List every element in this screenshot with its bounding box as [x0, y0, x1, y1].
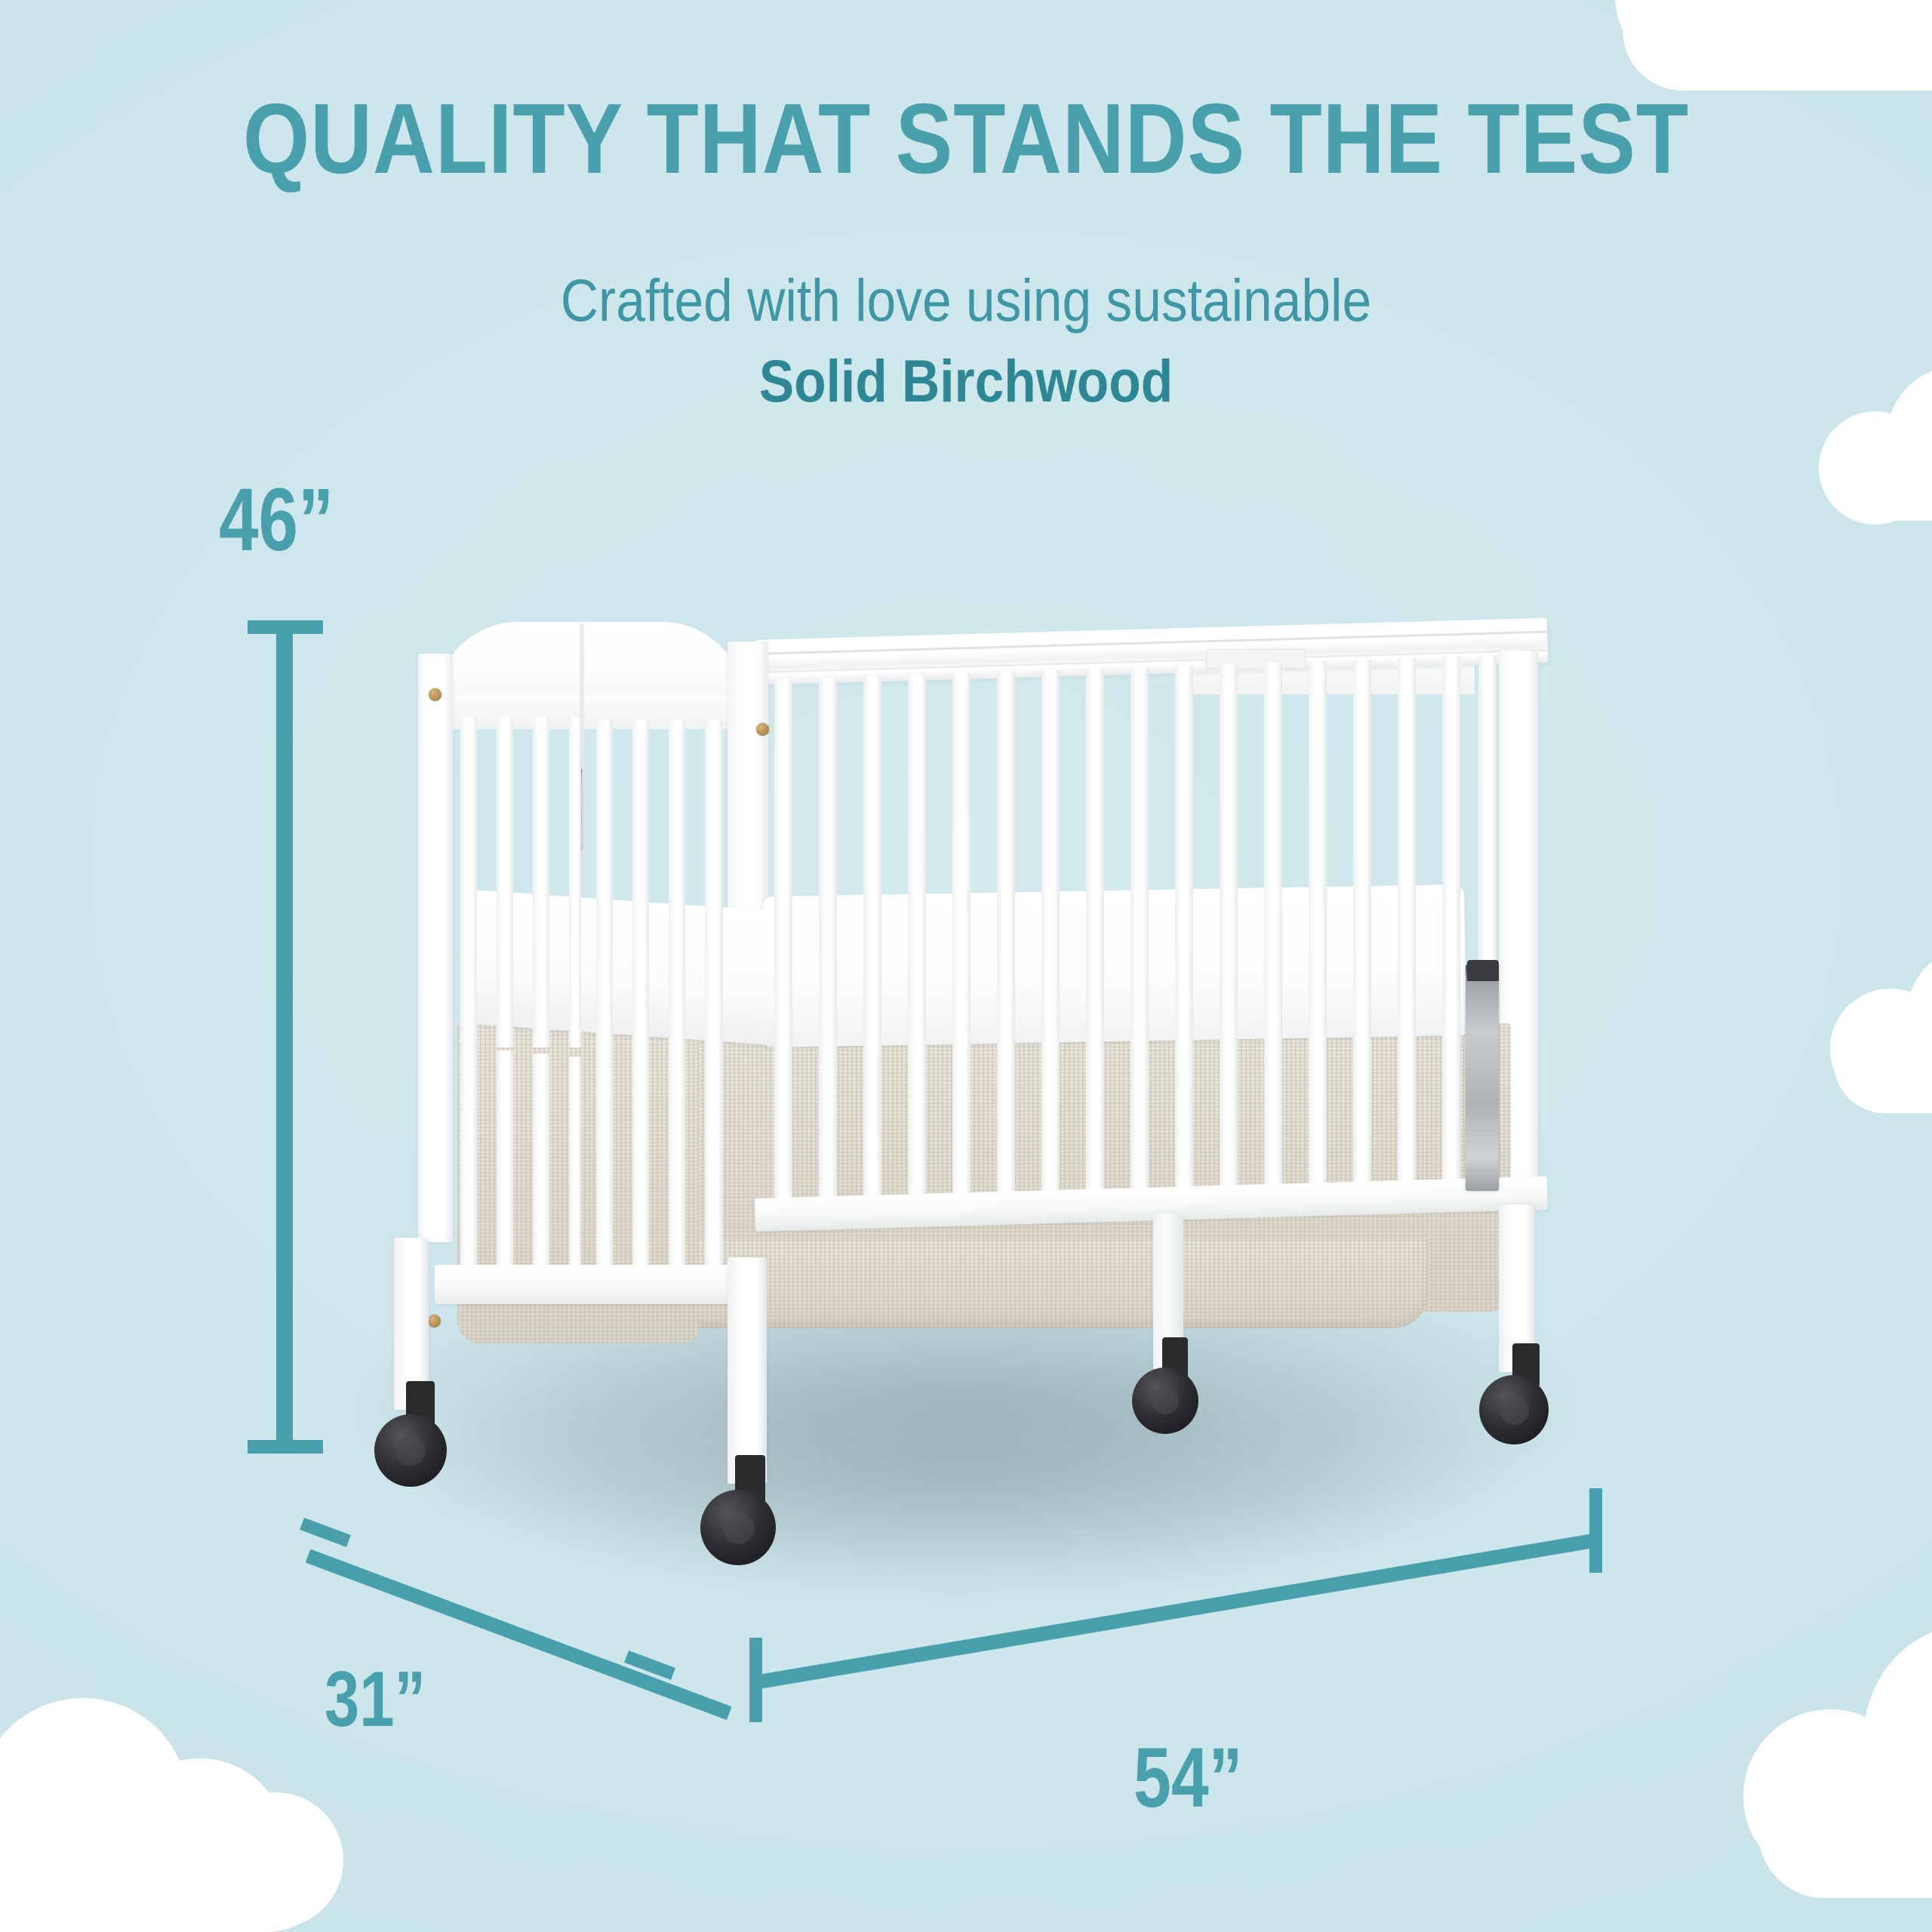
dimension-line-height: [276, 625, 293, 1446]
dimension-label-depth: 31”: [325, 1660, 426, 1739]
dimension-label-width: 54”: [1134, 1736, 1242, 1820]
dimension-cap-width-end: [1589, 1488, 1602, 1573]
caster-wheel-front-left: [367, 1381, 465, 1487]
post-screw-cap-icon: [756, 723, 769, 736]
caster-wheel-rear-right: [1473, 1343, 1568, 1446]
near-headboard-body: [435, 694, 746, 729]
dimension-cap-width-start: [749, 1638, 762, 1722]
crib-mattress-left-end: [468, 890, 785, 1046]
headboard-bottom-rail: [435, 1265, 746, 1304]
post-screw-cap-icon: [429, 688, 441, 701]
latch-thumb-tab-icon: [1467, 960, 1499, 981]
dimension-label-height: 46”: [219, 475, 334, 565]
caster-wheel-rear-center: [1126, 1337, 1217, 1435]
caster-wheel-front-center: [693, 1455, 795, 1565]
side-rail-folding-latch-icon: [1466, 964, 1499, 1191]
dimension-cap-height-bottom: [248, 1440, 323, 1454]
infographic-canvas: QUALITY THAT STANDS THE TEST Crafted wit…: [0, 0, 1932, 1932]
front-left-corner-post: [418, 654, 453, 1242]
crib-floor-shadow-soft: [423, 1328, 1494, 1600]
front-center-leg: [728, 1257, 767, 1484]
post-screw-cap-icon: [428, 1315, 441, 1327]
